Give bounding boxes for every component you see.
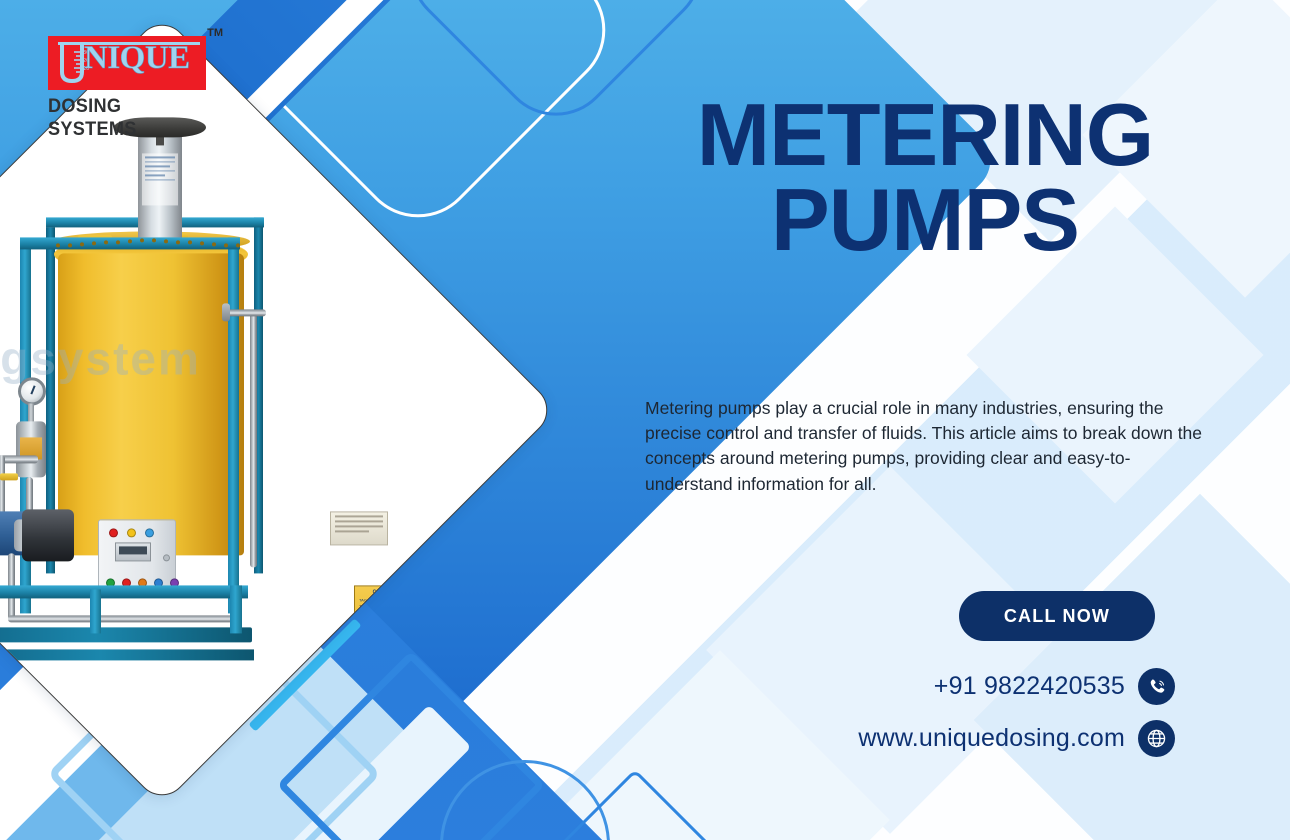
website-url[interactable]: www.uniquedosing.com — [858, 724, 1125, 753]
website-contact-row[interactable]: www.uniquedosing.com — [640, 720, 1175, 757]
tank-rim-bolt — [116, 240, 120, 244]
tank-rim-bolt — [224, 243, 228, 247]
title-line-1: METERING — [697, 85, 1153, 184]
tank-rim-bolt — [68, 243, 72, 247]
caustic-tank-body: CAUSTIC TANK TAG NOT-1TYPEVERTICAL CYL.D… — [58, 253, 244, 555]
valve-handle — [0, 473, 18, 480]
panel-digital-display — [115, 542, 151, 561]
pulsation-damper — [16, 421, 46, 477]
metering-pump-head — [22, 509, 74, 561]
indicator-blue — [145, 528, 154, 537]
description-text: Metering pumps play a crucial role in ma… — [645, 396, 1211, 497]
logo-mark: 30 20 10 NIQUE TM — [48, 36, 206, 90]
content-column: METERING PUMPS Metering pumps play a cru… — [640, 0, 1290, 840]
frame-upright-front-right — [228, 237, 239, 613]
call-now-button[interactable]: CALL NOW — [959, 591, 1155, 641]
skid-rail-upper — [0, 585, 248, 598]
skid-rail-lower — [0, 627, 252, 642]
company-logo[interactable]: 30 20 10 NIQUE TM DOSING SYSTEMS — [48, 36, 223, 141]
suction-riser — [0, 455, 5, 515]
indicator-yellow — [127, 528, 136, 537]
logo-wordmark: NIQUE — [84, 40, 190, 77]
logo-tagline: DOSING SYSTEMS — [48, 95, 211, 141]
tank-rim-bolt — [80, 242, 84, 246]
photo-watermark: edosingsystem — [0, 331, 480, 385]
trademark-symbol: TM — [207, 27, 223, 39]
panel-knob[interactable] — [163, 554, 170, 561]
skid-crossbrace — [0, 649, 254, 660]
promotional-banner: CAUSTIC TANK TAG NOT-1TYPEVERTICAL CYL.D… — [0, 0, 1290, 840]
control-panel[interactable] — [98, 519, 176, 595]
title-line-2: PUMPS — [640, 177, 1210, 262]
tank-warning-plate — [330, 511, 388, 545]
stack-label-sticker — [142, 153, 178, 205]
phone-call-icon[interactable] — [1138, 668, 1175, 705]
tank-rim-bolt — [176, 240, 180, 244]
indicator-red — [109, 528, 118, 537]
phone-number[interactable]: +91 9822420535 — [934, 672, 1125, 701]
base-pipe-run — [8, 615, 238, 622]
phone-contact-row[interactable]: +91 9822420535 — [640, 668, 1175, 705]
page-title: METERING PUMPS — [640, 92, 1210, 263]
tank-rim-bolt — [212, 242, 216, 246]
suction-header — [0, 455, 38, 463]
side-pipe-flange — [222, 303, 230, 321]
skid-leg-mid — [90, 589, 101, 633]
side-pipe-horizontal — [226, 309, 266, 316]
globe-icon[interactable] — [1138, 720, 1175, 757]
skid-leg-right — [230, 585, 242, 633]
panel-indicator-lights-top — [109, 528, 154, 537]
